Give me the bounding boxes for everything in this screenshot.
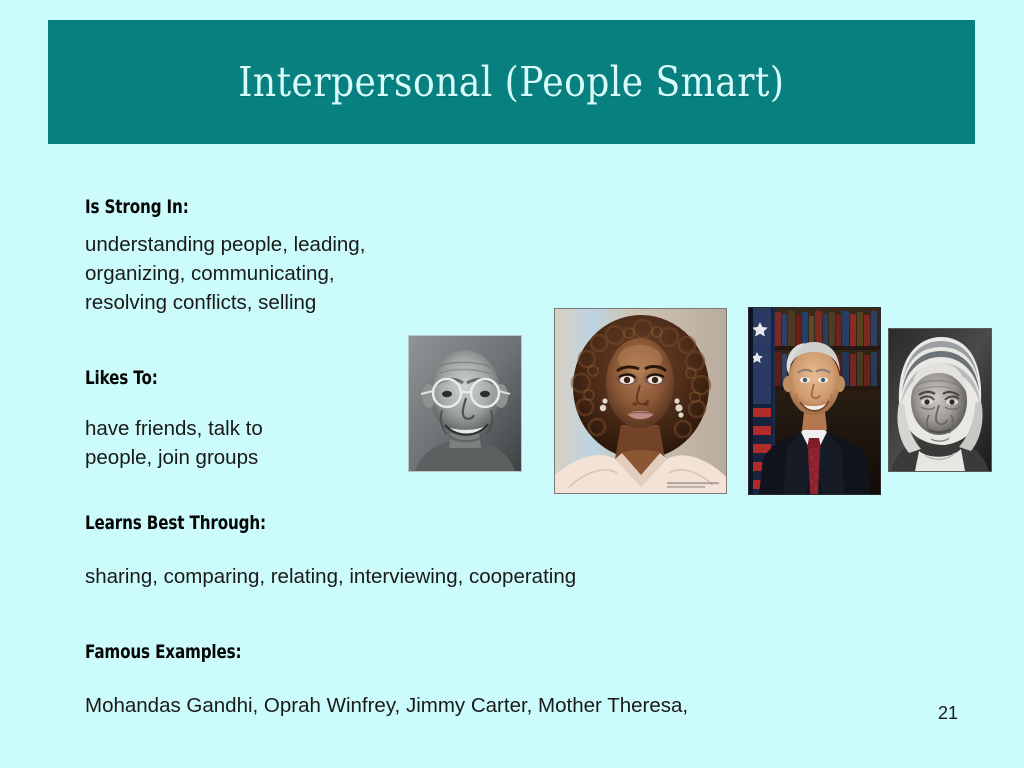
- text-likes-to: have friends, talk to people, join group…: [85, 414, 263, 472]
- slide-content: Is Strong In: understanding people, lead…: [0, 0, 1024, 768]
- text-is-strong-in: understanding people, leading, organizin…: [85, 230, 365, 317]
- gandhi-portrait-image: [408, 335, 522, 472]
- heading-famous-examples: Famous Examples:: [85, 641, 241, 663]
- text-learns-best-through: sharing, comparing, relating, interviewi…: [85, 562, 576, 591]
- oprah-portrait-image: [554, 308, 727, 494]
- page-number: 21: [938, 703, 958, 724]
- carter-portrait-image: [748, 307, 881, 495]
- heading-learns-best-through: Learns Best Through:: [85, 512, 266, 534]
- theresa-portrait-image: [888, 328, 992, 472]
- heading-likes-to: Likes To:: [85, 367, 158, 389]
- slide: Interpersonal (People Smart) Is Strong I…: [0, 0, 1024, 768]
- heading-is-strong-in: Is Strong In:: [85, 196, 189, 218]
- text-famous-examples: Mohandas Gandhi, Oprah Winfrey, Jimmy Ca…: [85, 691, 688, 720]
